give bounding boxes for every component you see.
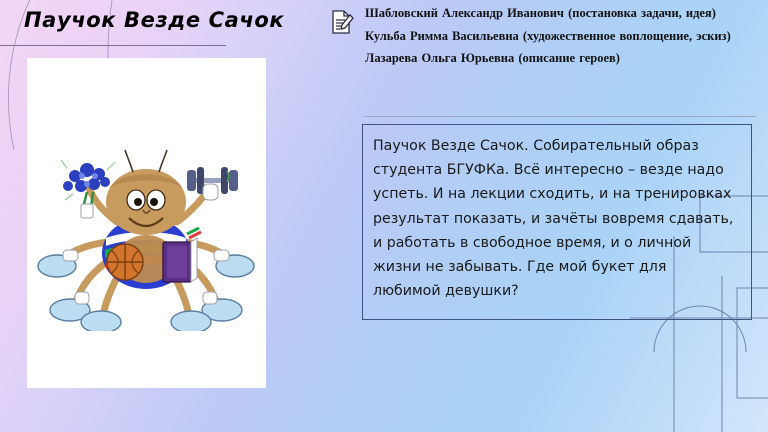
slide-title: Паучок Везде Сачок	[24, 8, 284, 32]
spider-mascot-illustration	[37, 146, 255, 331]
credit-item: Кульба Римма Васильевна (художественное …	[326, 29, 762, 45]
credits-separator	[363, 116, 756, 117]
presentation-slide: Паучок Везде Сачок	[0, 0, 768, 432]
credit-text: Шабловский Александр Иванович (постановк…	[326, 6, 762, 22]
credit-item: Лазарева Ольга Юрьевна (описание героев)	[326, 51, 762, 67]
green-artifact-mark	[224, 170, 231, 183]
description-text: Паучок Везде Сачок. Собирательный образ …	[373, 134, 737, 303]
credit-text: Кульба Римма Васильевна (художественное …	[326, 29, 762, 45]
credits-list: Шабловский Александр Иванович (постановк…	[326, 6, 762, 74]
credit-item: Шабловский Александр Иванович (постановк…	[326, 6, 762, 22]
title-underline	[0, 45, 226, 46]
credit-text: Лазарева Ольга Юрьевна (описание героев)	[326, 51, 762, 67]
illustration-card	[27, 58, 266, 388]
